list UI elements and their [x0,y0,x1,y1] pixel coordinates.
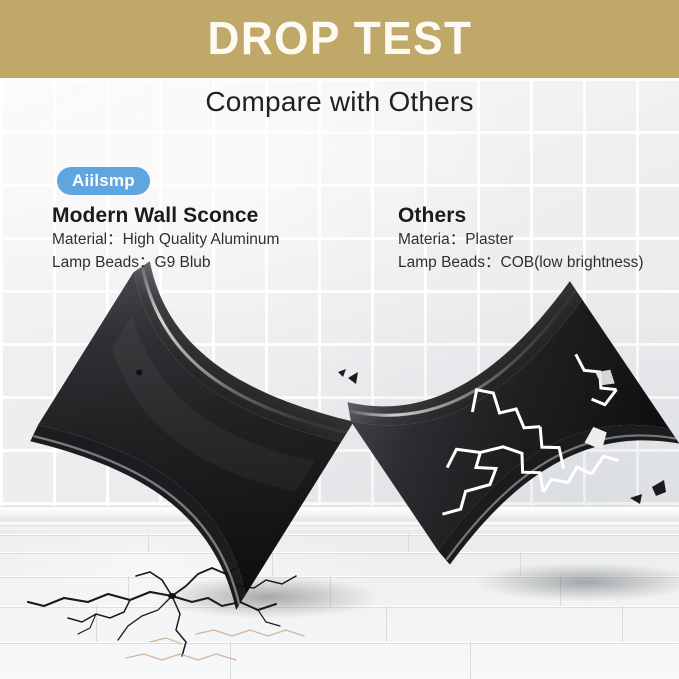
right-spec-key-material: Materia [398,231,450,248]
right-spec-value-lamp-beads: COB(low brightness) [501,254,644,271]
right-product-spec-block: Others Materia：Plaster Lamp Beads：COB(lo… [398,203,644,274]
right-spec-row-material: Materia：Plaster [398,229,644,252]
left-spec-sep-lamp-beads: ： [139,254,155,271]
brand-badge: Aiilsmp [57,167,150,195]
left-product-title: Modern Wall Sconce [52,203,279,229]
drop-test-infographic: DROP TEST Compare with Others Aiilsmp Mo… [0,0,679,679]
left-product-spec-block: Modern Wall Sconce Material：High Quality… [52,203,279,274]
right-spec-sep-material: ： [450,231,466,248]
left-spec-row-material: Material：High Quality Aluminum [52,229,279,252]
left-spec-row-lamp-beads: Lamp Beads：G9 Blub [52,252,279,275]
left-spec-value-lamp-beads: G9 Blub [155,254,211,271]
right-spec-row-lamp-beads: Lamp Beads：COB(low brightness) [398,252,644,275]
left-spec-sep-material: ： [107,231,123,248]
left-spec-key-material: Material [52,231,107,248]
subtitle: Compare with Others [0,86,679,118]
left-spec-key-lamp-beads: Lamp Beads [52,254,139,271]
right-spec-sep-lamp-beads: ： [485,254,501,271]
right-spec-value-material: Plaster [465,231,513,248]
right-product-title: Others [398,203,644,229]
header-banner: DROP TEST [0,0,679,78]
left-spec-value-material: High Quality Aluminum [123,231,280,248]
page-title: DROP TEST [207,15,472,63]
right-spec-key-lamp-beads: Lamp Beads [398,254,485,271]
